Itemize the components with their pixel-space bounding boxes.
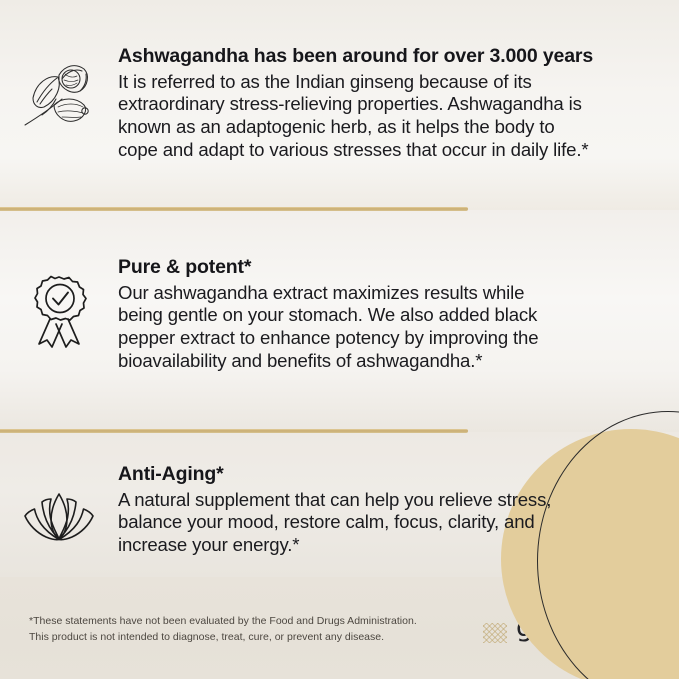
text-column: Anti-Aging* A natural supplement that ca… xyxy=(118,463,679,557)
body-line: It is referred to as the Indian ginseng … xyxy=(118,71,657,94)
award-ribbon-check-icon xyxy=(26,274,92,355)
benefit-section-3: Anti-Aging* A natural supplement that ca… xyxy=(0,463,679,557)
footer: *These statements have not been evaluate… xyxy=(0,577,679,679)
benefit-section-2: Pure & potent* Our ashwagandha extract m… xyxy=(0,256,679,372)
body-line: bioavailability and benefits of ashwagan… xyxy=(118,350,657,373)
icon-column xyxy=(0,45,118,142)
body-line: Our ashwagandha extract maximizes result… xyxy=(118,282,657,305)
body-line: being gentle on your stomach. We also ad… xyxy=(118,304,657,327)
body-line: increase your energy.* xyxy=(118,534,657,557)
body-line: balance your mood, restore calm, focus, … xyxy=(118,511,657,534)
body-line: A natural supplement that can help you r… xyxy=(118,489,657,512)
icon-column xyxy=(0,463,118,548)
body-line: cope and adapt to various stresses that … xyxy=(118,139,657,162)
lotus-flower-icon xyxy=(20,491,98,548)
section-body: Our ashwagandha extract maximizes result… xyxy=(118,282,657,372)
fda-disclaimer: *These statements have not been evaluate… xyxy=(29,614,417,646)
body-line: pepper extract to enhance potency by imp… xyxy=(118,327,657,350)
section-body: It is referred to as the Indian ginseng … xyxy=(118,71,657,161)
text-column: Ashwagandha has been around for over 3.0… xyxy=(118,45,679,161)
body-line: known as an adaptogenic herb, as it help… xyxy=(118,116,657,139)
gold-divider-2 xyxy=(0,429,468,433)
benefit-section-1: Ashwagandha has been around for over 3.0… xyxy=(0,45,679,161)
text-column: Pure & potent* Our ashwagandha extract m… xyxy=(118,256,679,372)
section-body: A natural supplement that can help you r… xyxy=(118,489,657,557)
icon-column xyxy=(0,256,118,355)
section-heading: Anti-Aging* xyxy=(118,463,657,487)
section-heading: Ashwagandha has been around for over 3.0… xyxy=(118,45,657,69)
ashwagandha-plant-icon xyxy=(18,55,100,142)
disclaimer-line-2: This product is not intended to diagnose… xyxy=(29,630,417,646)
section-heading: Pure & potent* xyxy=(118,256,657,280)
disclaimer-line-1: *These statements have not been evaluate… xyxy=(29,614,417,630)
body-line: extraordinary stress-relieving propertie… xyxy=(118,93,657,116)
gold-divider-1 xyxy=(0,207,468,211)
